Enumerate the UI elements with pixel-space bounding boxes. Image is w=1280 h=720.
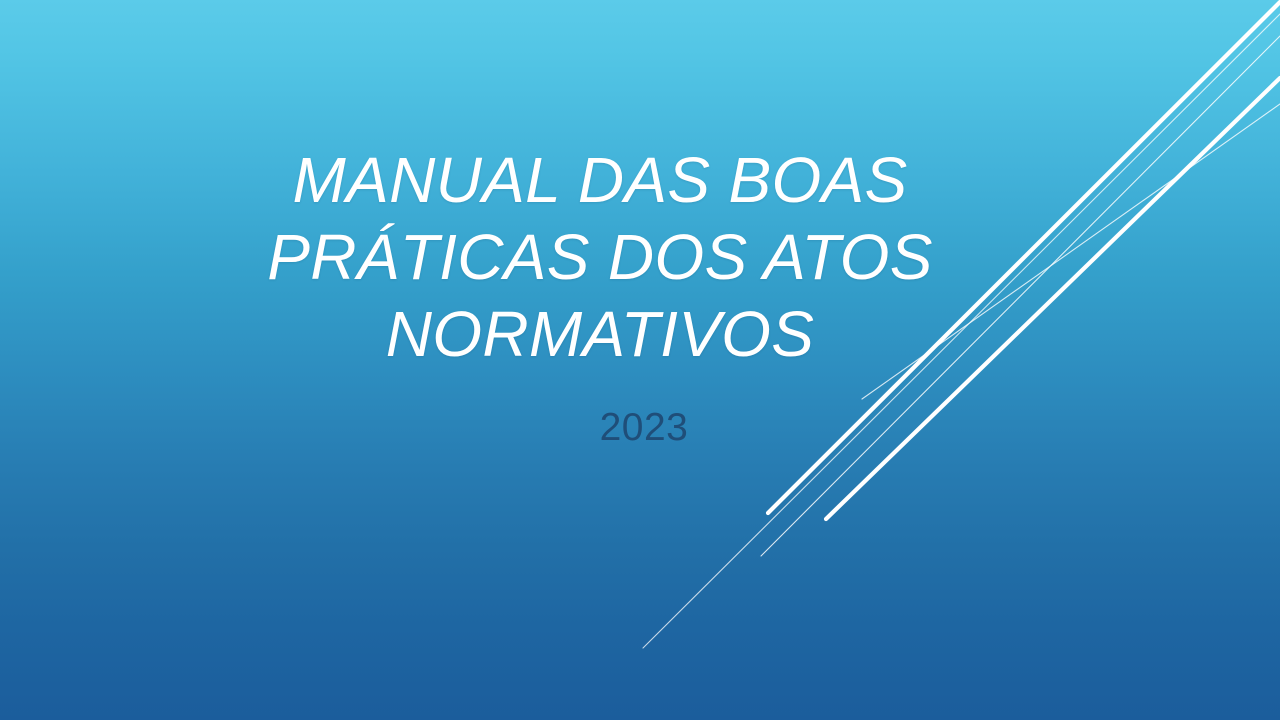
subtitle-placeholder: 2023 bbox=[0, 404, 1280, 452]
slide-subtitle: 2023 bbox=[0, 404, 1280, 452]
page-title: MANUAL DAS BOAS PRÁTICAS DOS ATOS NORMAT… bbox=[0, 142, 1200, 373]
title-slide: MANUAL DAS BOAS PRÁTICAS DOS ATOS NORMAT… bbox=[0, 0, 1280, 720]
title-placeholder: MANUAL DAS BOAS PRÁTICAS DOS ATOS NORMAT… bbox=[0, 142, 1200, 373]
